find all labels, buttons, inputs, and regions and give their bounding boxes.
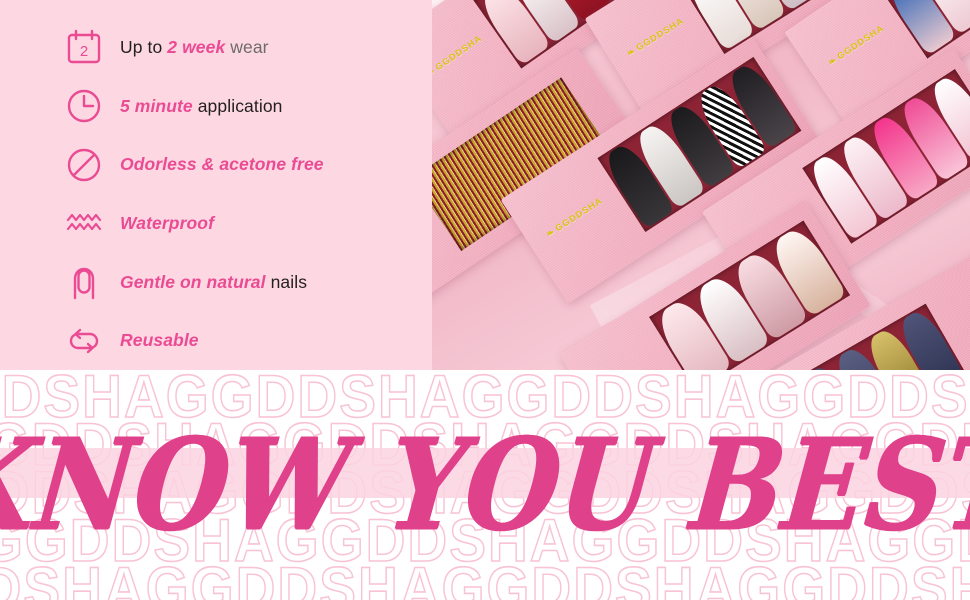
product-photo: ❧GGDDSHA ❧GGDDSHA [432, 0, 970, 370]
feature-highlight: Gentle on natural [120, 272, 266, 292]
box-logo-text: GGDDSHA [634, 15, 685, 52]
feature-suffix: wear [225, 37, 268, 57]
box-window [880, 0, 970, 59]
feature-text: Reusable [120, 330, 199, 351]
calendar-icon: 2 [62, 25, 106, 69]
feature-item-5-minute-application: 5 minute application [0, 77, 432, 136]
feature-text: 5 minute application [120, 96, 283, 117]
feature-highlight: Waterproof [120, 213, 214, 233]
feature-item-2-week-wear: 2 Up to 2 week wear [0, 18, 432, 77]
no-entry-icon [62, 143, 106, 187]
box-logo-text: GGDDSHA [835, 23, 886, 62]
box-logo: ❧GGDDSHA [625, 15, 686, 59]
feature-item-odorless-acetone-free: Odorless & acetone free [0, 135, 432, 194]
feature-highlight: 2 week [167, 37, 225, 57]
feature-highlight: 5 minute [120, 96, 193, 116]
bottom-banner: GGDDSHAGGDDSHAGGDDSHAGGDDSHAGGDDSHAGGDDS… [0, 370, 970, 600]
svg-text:2: 2 [80, 43, 88, 60]
feature-item-reusable: Reusable [0, 311, 432, 370]
feature-highlight: Odorless & acetone free [120, 154, 324, 174]
headline-row: KNOW YOU BEST [0, 370, 970, 600]
feature-item-gentle-on-natural-nails: Gentle on natural nails [0, 253, 432, 312]
nail-strip [880, 0, 970, 59]
fingernail-icon [62, 260, 106, 304]
feature-suffix: nails [266, 272, 307, 292]
feature-list: 2 Up to 2 week wear 5 minute application [0, 0, 432, 370]
box-logo: ❧GGDDSHA [826, 23, 886, 69]
features-panel: 2 Up to 2 week wear 5 minute application [0, 0, 432, 370]
feature-item-waterproof: Waterproof [0, 194, 432, 253]
reuse-loop-icon [62, 319, 106, 363]
water-waves-icon [62, 201, 106, 245]
box-logo: ❧GGDDSHA [432, 33, 484, 79]
feature-text: Gentle on natural nails [120, 272, 307, 293]
feature-text: Up to 2 week wear [120, 37, 269, 58]
feature-text: Odorless & acetone free [120, 154, 324, 175]
box-logo-text: GGDDSHA [553, 195, 604, 233]
box-logo-text: GGDDSHA [434, 33, 484, 72]
feature-highlight: Reusable [120, 330, 199, 350]
feature-prefix: Up to [120, 37, 167, 57]
page-title: KNOW YOU BEST [0, 411, 970, 559]
top-banner: 2 Up to 2 week wear 5 minute application [0, 0, 970, 370]
feature-suffix: application [193, 96, 283, 116]
feature-text: Waterproof [120, 213, 214, 234]
clock-icon [62, 84, 106, 128]
box-logo: ❧GGDDSHA [544, 195, 605, 240]
